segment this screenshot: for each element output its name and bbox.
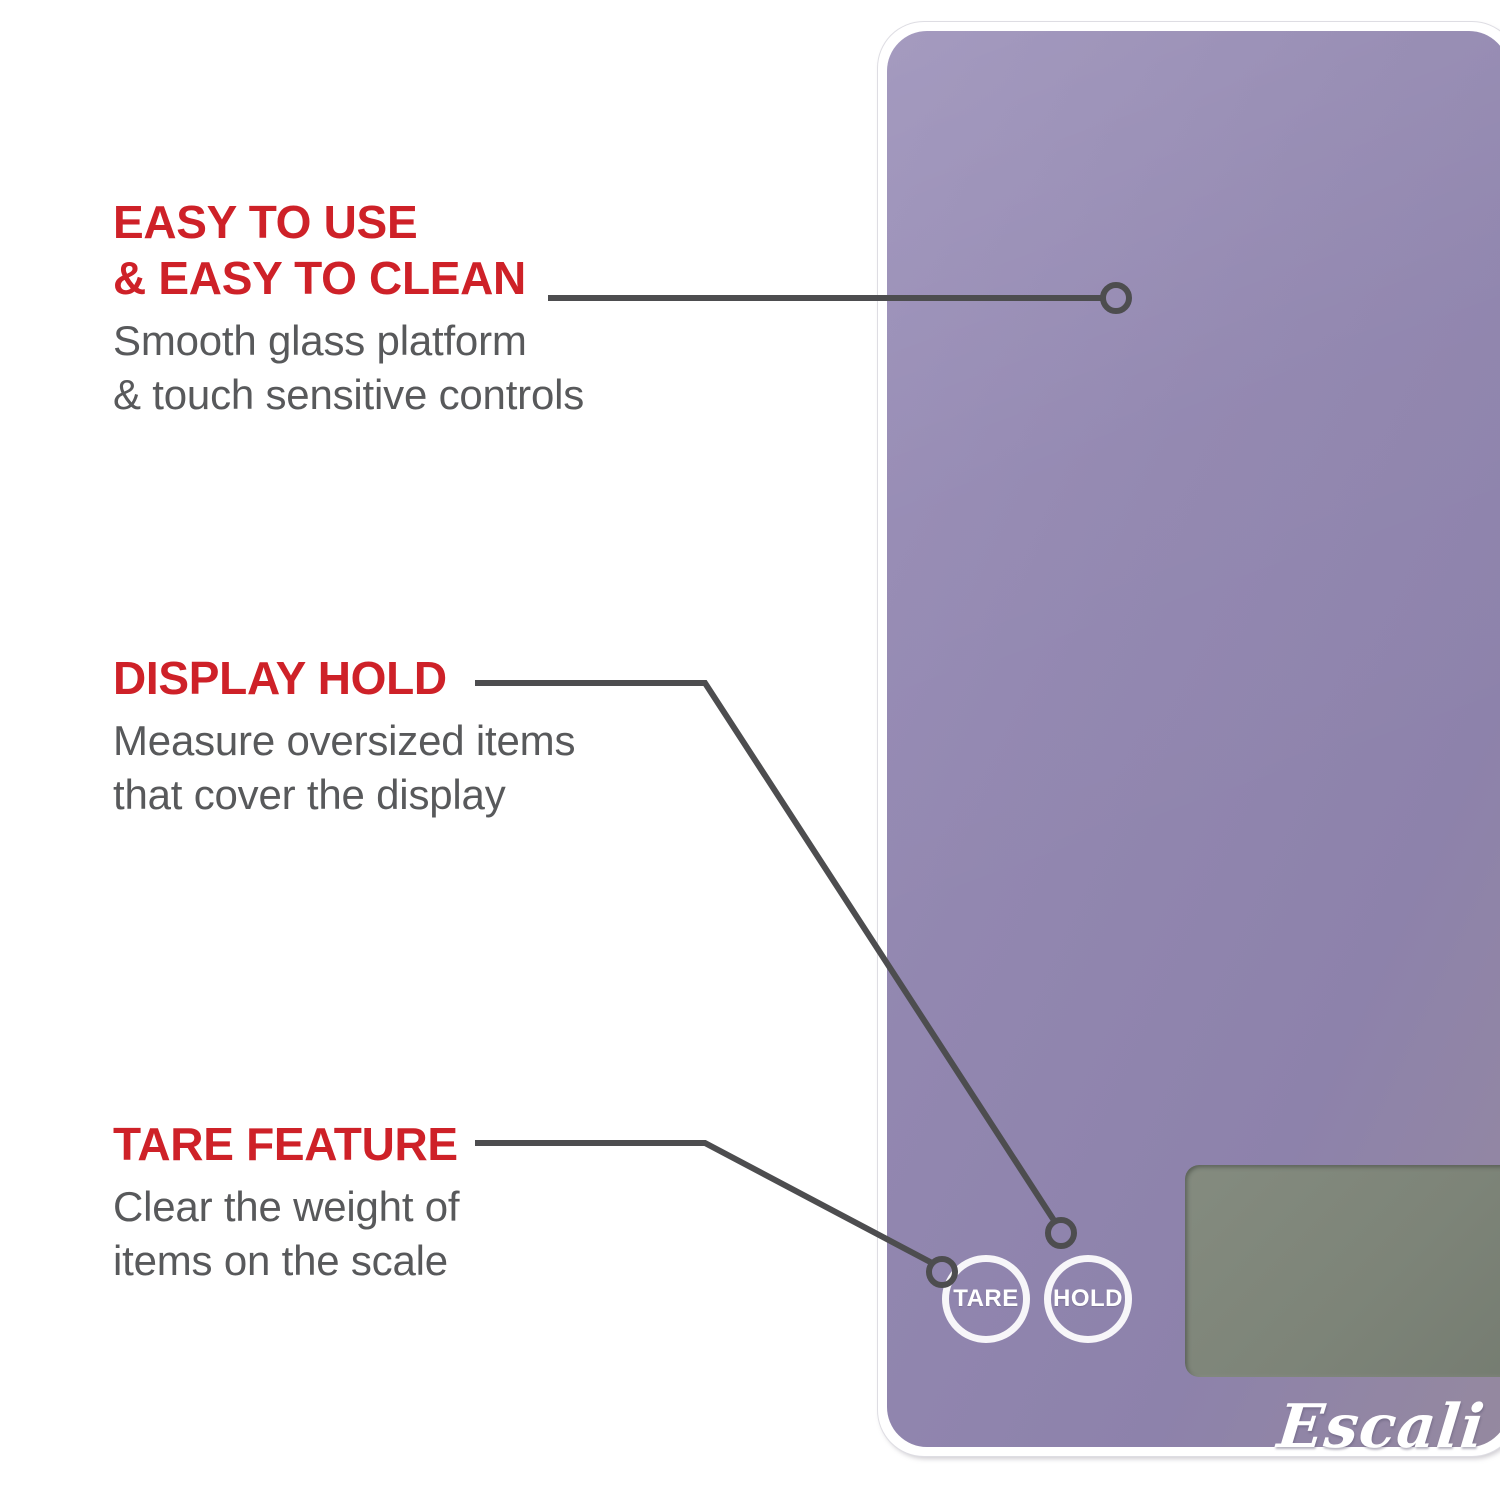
callout-tare-feature-title-line1: TARE FEATURE [113, 1116, 459, 1172]
callout-display-hold-body: Measure oversized items that cover the d… [113, 714, 575, 822]
tare-button-label: TARE [953, 1285, 1019, 1313]
infographic-page: TARE HOLD Escali EASY TO USE & EASY TO C… [0, 0, 1500, 1500]
callout-easy-to-use-title-line1: EASY TO USE [113, 194, 584, 250]
callout-tare-feature-body: Clear the weight of items on the scale [113, 1180, 459, 1288]
callout-display-hold-title: DISPLAY HOLD [113, 650, 575, 706]
callout-easy-to-use-body-line1: Smooth glass platform [113, 314, 584, 368]
callout-tare-feature: TARE FEATURE Clear the weight of items o… [113, 1116, 459, 1288]
callout-tare-feature-title: TARE FEATURE [113, 1116, 459, 1172]
callout-easy-to-use: EASY TO USE & EASY TO CLEAN Smooth glass… [113, 194, 584, 422]
callout-display-hold-title-line1: DISPLAY HOLD [113, 650, 575, 706]
lcd-display [1185, 1165, 1500, 1377]
callout-easy-to-use-body-line2: & touch sensitive controls [113, 368, 584, 422]
leader-line-tare-feature [475, 1143, 934, 1264]
tare-button[interactable]: TARE [942, 1255, 1030, 1343]
escali-brand-logo: Escali [1274, 1392, 1488, 1462]
callout-display-hold-body-line1: Measure oversized items [113, 714, 575, 768]
callout-easy-to-use-title: EASY TO USE & EASY TO CLEAN [113, 194, 584, 306]
callout-display-hold: DISPLAY HOLD Measure oversized items tha… [113, 650, 575, 822]
callout-display-hold-body-line2: that cover the display [113, 768, 575, 822]
callout-easy-to-use-body: Smooth glass platform & touch sensitive … [113, 314, 584, 422]
hold-button-label: HOLD [1053, 1285, 1123, 1313]
callout-tare-feature-body-line1: Clear the weight of [113, 1180, 459, 1234]
hold-button[interactable]: HOLD [1044, 1255, 1132, 1343]
callout-easy-to-use-title-line2: & EASY TO CLEAN [113, 250, 584, 306]
kitchen-scale-product-image: TARE HOLD Escali [878, 22, 1500, 1456]
callout-tare-feature-body-line2: items on the scale [113, 1234, 459, 1288]
